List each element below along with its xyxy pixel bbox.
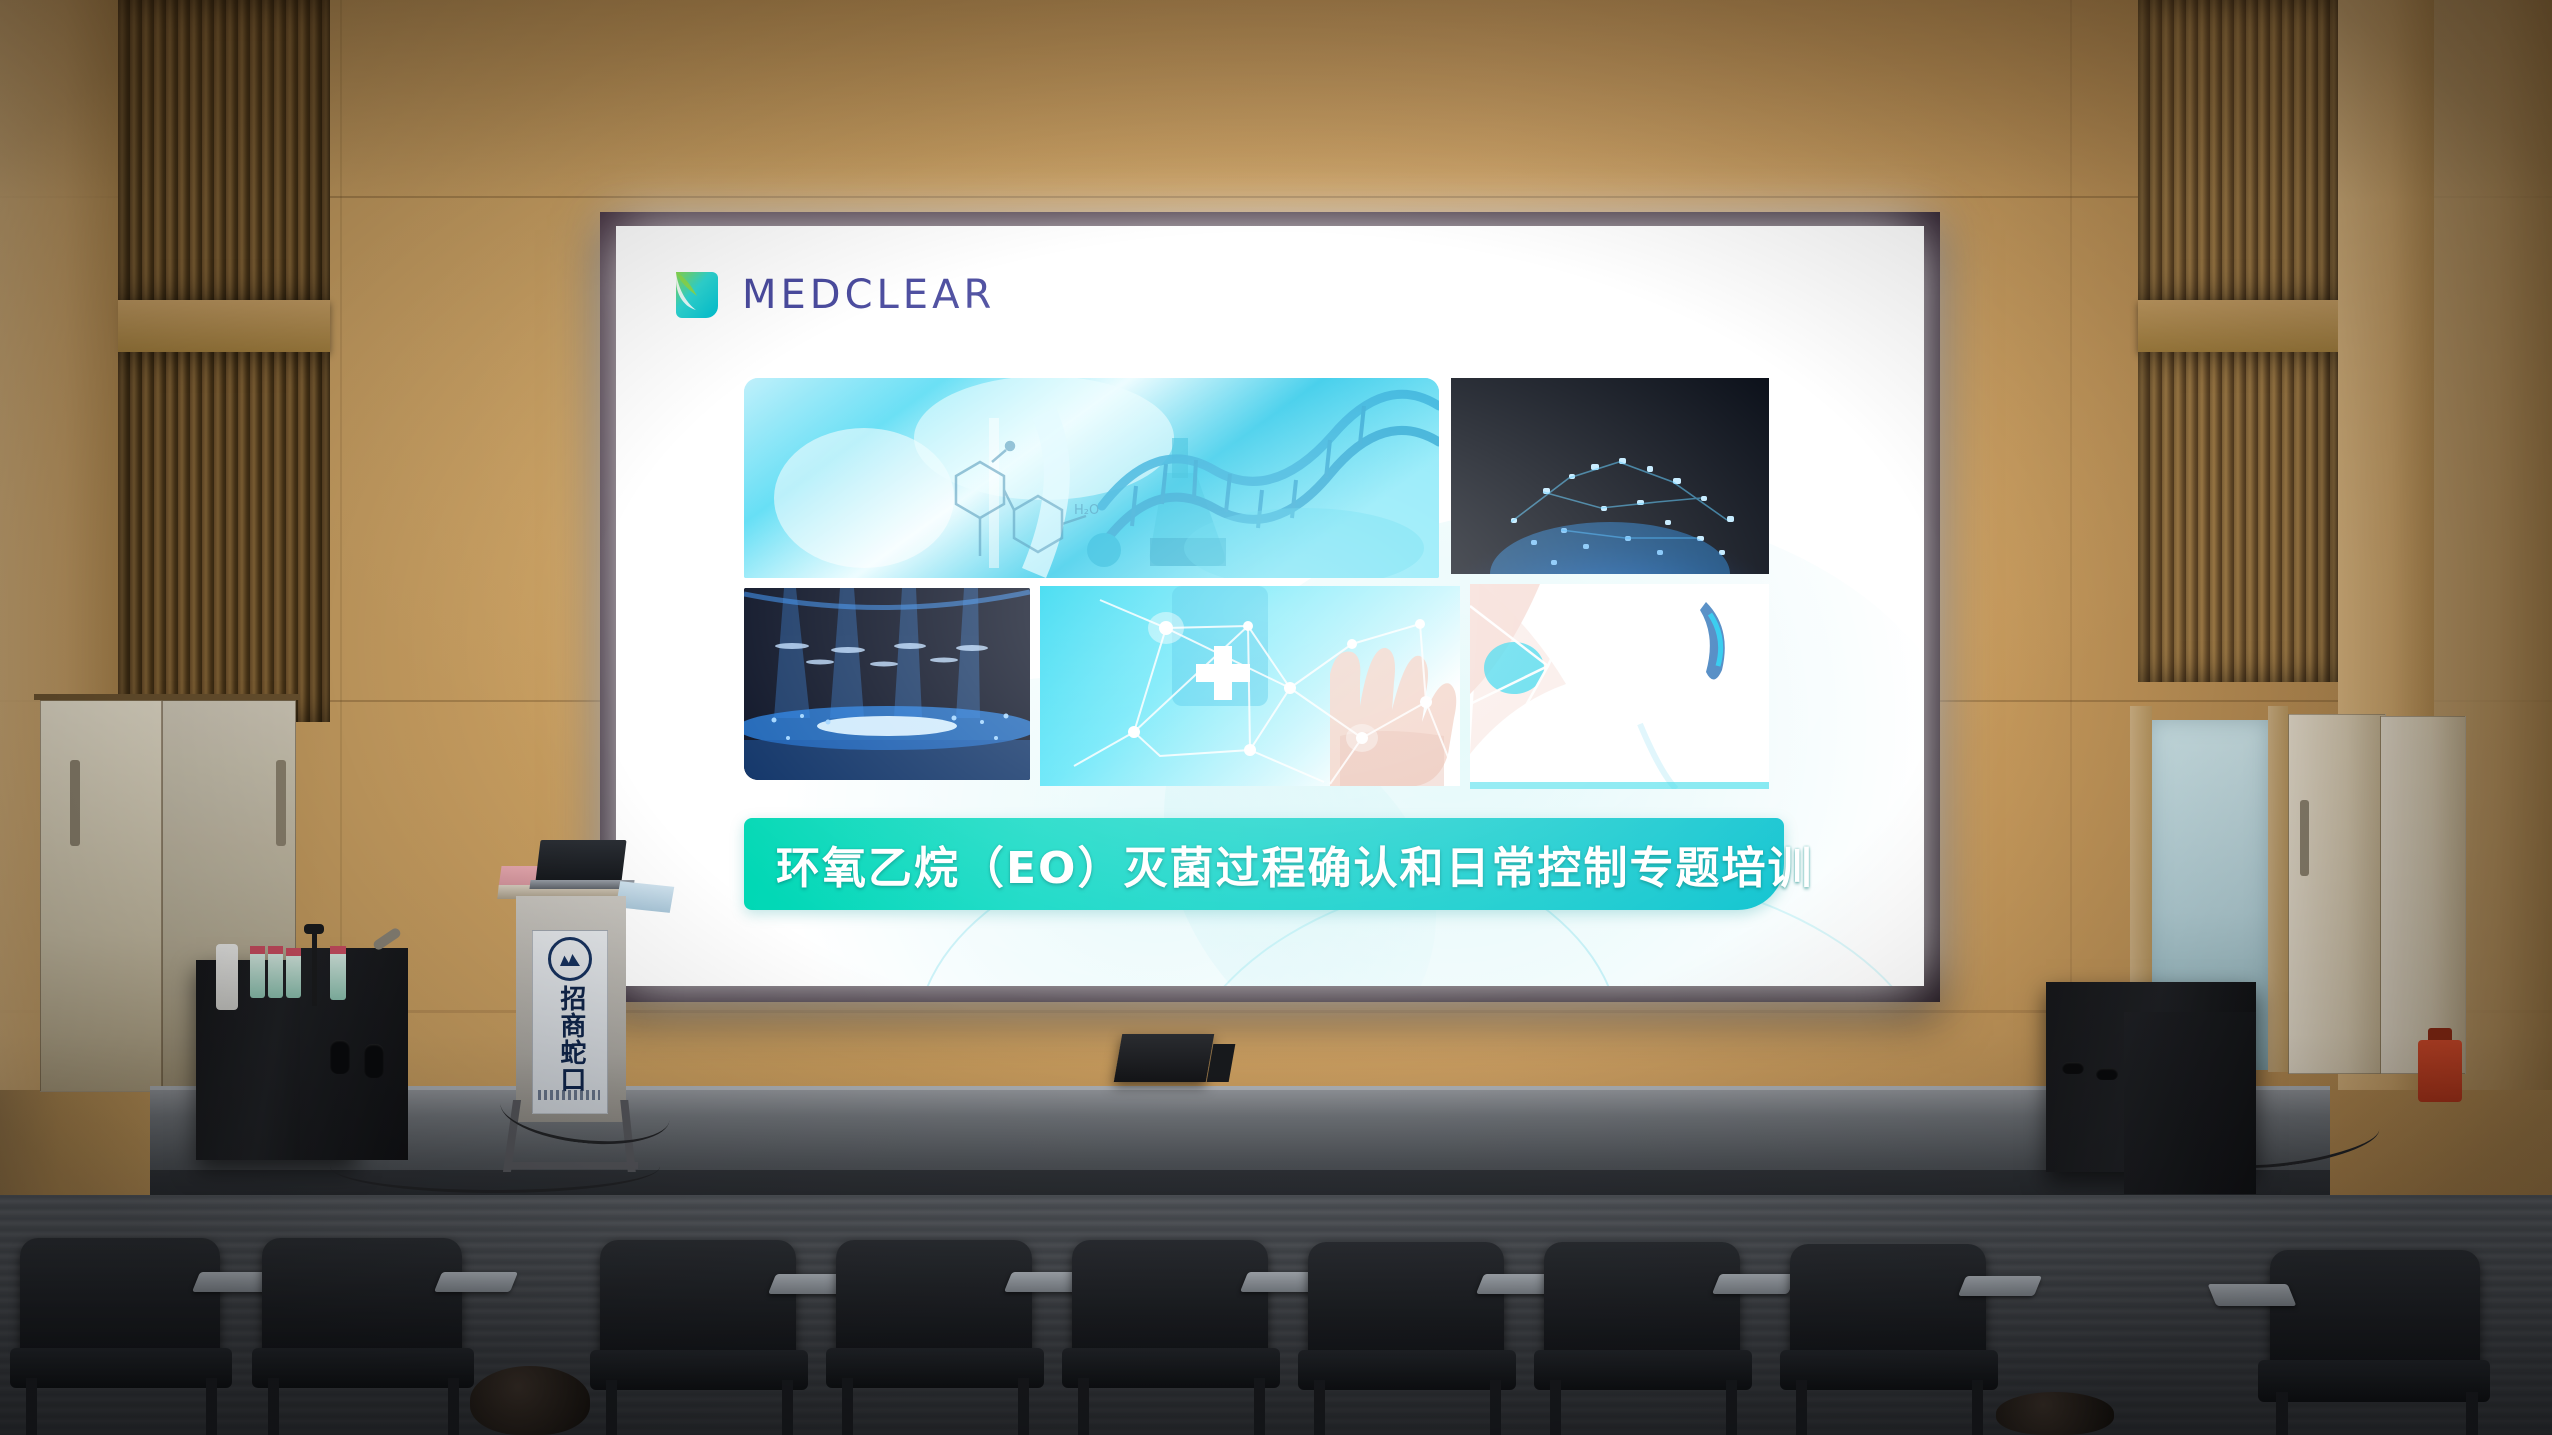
chair-leg xyxy=(1726,1380,1737,1435)
water-bottle-cap xyxy=(268,946,283,954)
collage-image-blue-globe xyxy=(1451,378,1769,574)
chair-leg xyxy=(1314,1380,1325,1435)
water-bottle xyxy=(286,954,301,998)
stage-monitor-wedge xyxy=(1114,1034,1214,1082)
slide-title-banner: 环氧乙烷（EO）灭菌过程确认和日常控制专题培训 xyxy=(744,818,1784,910)
chair-leg xyxy=(1254,1378,1265,1435)
microphone-head xyxy=(304,924,324,934)
chair-seat[interactable] xyxy=(1298,1350,1516,1390)
water-bottle xyxy=(250,952,265,998)
attendee-head xyxy=(1996,1392,2114,1435)
chair-backrest[interactable] xyxy=(1308,1242,1504,1360)
china-merchants-logo-icon xyxy=(548,937,592,981)
water-bottle xyxy=(330,952,346,1000)
collage-image-hand-network xyxy=(1040,586,1460,786)
chair-backrest[interactable] xyxy=(262,1238,462,1358)
brand-name: MEDCLEAR xyxy=(742,272,995,318)
microphone-stand xyxy=(312,930,317,1006)
chair-leg xyxy=(2466,1392,2478,1435)
leaf-logo-icon xyxy=(668,266,726,324)
chair-leg xyxy=(782,1380,793,1435)
chair-seat[interactable] xyxy=(252,1348,474,1388)
slide-title: 环氧乙烷（EO）灭菌过程确认和日常控制专题培训 xyxy=(776,832,1813,896)
chair-seat[interactable] xyxy=(10,1348,232,1388)
collage-image-white-overexposed xyxy=(1470,584,1769,789)
chair-leg xyxy=(206,1378,217,1435)
chair-seat[interactable] xyxy=(1534,1350,1752,1390)
chair-seat[interactable] xyxy=(2258,1360,2490,1402)
speaker-handle-cutout xyxy=(364,1044,384,1078)
speaker-handle-cutout xyxy=(330,1040,350,1074)
water-bottle-cap xyxy=(330,946,346,954)
chair-backrest[interactable] xyxy=(836,1240,1032,1358)
collage-image-stage-lights xyxy=(744,588,1030,780)
chair-leg xyxy=(1078,1378,1089,1435)
tissue-roll xyxy=(216,944,238,1010)
chair-seat[interactable] xyxy=(826,1348,1044,1388)
laptop-screen[interactable] xyxy=(535,840,626,882)
water-bottle-cap xyxy=(250,946,265,954)
brand-logo: MEDCLEAR xyxy=(668,266,995,324)
subwoofer-handle-cutout xyxy=(2096,1068,2118,1080)
chair-leg xyxy=(1550,1380,1561,1435)
chair-leg xyxy=(2276,1392,2288,1435)
image-collage: H₂O xyxy=(744,378,1769,790)
chair-leg xyxy=(268,1378,279,1435)
fire-extinguisher xyxy=(2418,1040,2462,1102)
chair-writing-tablet[interactable] xyxy=(1712,1274,1796,1294)
chair-leg xyxy=(606,1380,617,1435)
chair-leg xyxy=(1796,1380,1807,1435)
chair-backrest[interactable] xyxy=(1790,1244,1986,1360)
chair-seat[interactable] xyxy=(590,1350,808,1390)
podium-sign-text: 招商蛇口 xyxy=(556,985,584,1093)
chair-writing-tablet[interactable] xyxy=(434,1272,518,1292)
chair-backrest[interactable] xyxy=(1072,1240,1268,1358)
chair-backrest[interactable] xyxy=(2270,1250,2480,1370)
collage-image-lab-dna: H₂O xyxy=(744,378,1439,578)
chair-leg xyxy=(1490,1380,1501,1435)
led-wall-bezel: MEDCLEAR xyxy=(600,212,1940,1002)
chair-seat[interactable] xyxy=(1780,1350,1998,1390)
chair-leg xyxy=(1972,1380,1983,1435)
attendee-head xyxy=(470,1366,590,1435)
subwoofer-right-front xyxy=(2124,1012,2256,1194)
chair-leg xyxy=(448,1378,459,1435)
svg-text:H₂O: H₂O xyxy=(1074,503,1099,518)
chair-writing-tablet[interactable] xyxy=(1958,1276,2042,1296)
subwoofer-handle-cutout xyxy=(2062,1062,2084,1074)
floor-cable xyxy=(330,1140,660,1193)
chair-leg xyxy=(1018,1378,1029,1435)
led-wall-screen[interactable]: MEDCLEAR xyxy=(616,226,1924,986)
chair-backrest[interactable] xyxy=(20,1238,220,1358)
auditorium-scene: MEDCLEAR xyxy=(0,0,2552,1435)
chair-backrest[interactable] xyxy=(1544,1242,1740,1360)
chair-backrest[interactable] xyxy=(600,1240,796,1360)
chair-writing-tablet[interactable] xyxy=(2208,1284,2297,1306)
chair-leg xyxy=(26,1378,37,1435)
chair-leg xyxy=(842,1378,853,1435)
water-bottle-cap xyxy=(286,948,301,956)
chair-seat[interactable] xyxy=(1062,1348,1280,1388)
water-bottle xyxy=(268,952,283,998)
